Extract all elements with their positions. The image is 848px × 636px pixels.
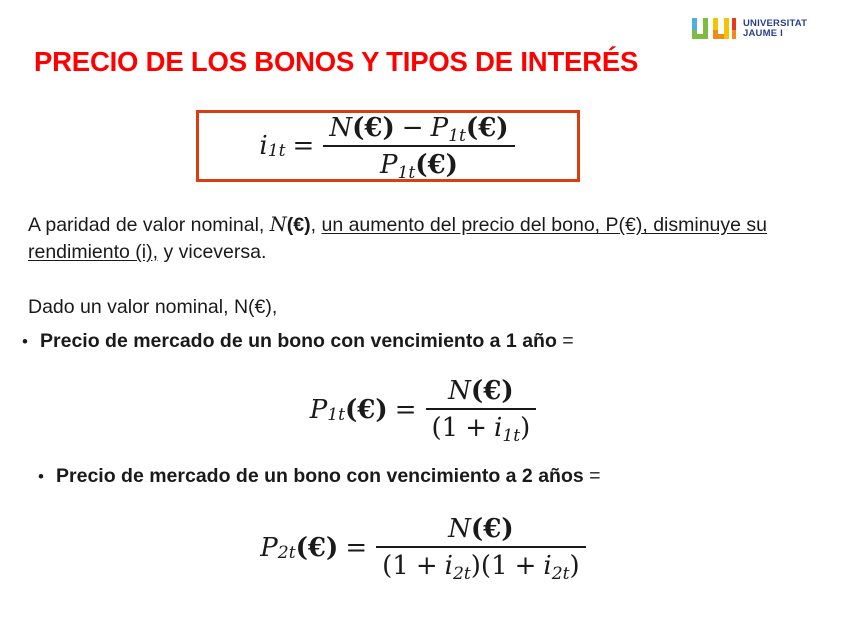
den-euro: (€) — [415, 150, 458, 180]
eq-denominator: P1t(€) — [323, 145, 514, 180]
uji-logo-mark — [692, 18, 736, 39]
bullet-1-label: Precio de mercado de un bono con vencimi… — [40, 330, 557, 352]
bullet-item-1-year: • Precio de mercado de un bono con venci… — [22, 330, 574, 353]
bullet-1-equals: = — [557, 330, 574, 352]
equation-price-2-years: P2t(€) = N(€) (1+i2t)(1+i2t) — [260, 514, 587, 581]
eq-var-i: i — [259, 131, 267, 161]
eq1-den-open: ( — [432, 413, 442, 443]
eq1-euro: (€) — [345, 395, 388, 425]
eq-sub-1t: 1t — [268, 141, 286, 161]
paridad-seg1: A paridad de valor nominal, — [28, 214, 270, 236]
eq2-den-close-1: ) — [471, 551, 481, 581]
eq2-P: P — [260, 533, 278, 563]
eq2-euro: (€) — [296, 533, 339, 563]
num-N: N — [329, 113, 352, 143]
num-euro-2: (€) — [466, 113, 509, 143]
eq2-den-close-2: ) — [570, 551, 580, 581]
eq1-numerator: N(€) — [442, 376, 519, 408]
eq2-den-open-2: ( — [481, 551, 491, 581]
eq1-denominator: (1+i1t) — [426, 408, 537, 443]
eq2-den-plus-1: + — [416, 551, 438, 581]
eq1-fraction: N(€) (1+i1t) — [426, 376, 537, 443]
uji-logo-text: UNIVERSITAT JAUME I — [743, 19, 807, 38]
equation-price-1-year-wrap: P1t(€) = N(€) (1+i1t) — [0, 376, 848, 443]
eq1-den-close: ) — [520, 413, 530, 443]
equation-price-2-years-wrap: P2t(€) = N(€) (1+i2t)(1+i2t) — [0, 514, 848, 581]
eq2-fraction: N(€) (1+i2t)(1+i2t) — [376, 514, 586, 581]
uji-logo-line2: JAUME I — [743, 29, 807, 39]
bullet-1-text: Precio de mercado de un bono con vencimi… — [40, 330, 574, 353]
bullet-2-text: Precio de mercado de un bono con vencimi… — [56, 465, 601, 488]
eq1-P: P — [310, 395, 328, 425]
eq2-den-i-1: i — [445, 551, 453, 581]
eq2-den-open-1: ( — [382, 551, 392, 581]
paridad-N: N — [270, 213, 287, 236]
paragraph-paridad: A paridad de valor nominal, N(€), un aum… — [28, 212, 788, 266]
num-minus: − — [402, 113, 424, 143]
boxed-equation: i1t = N(€)−P1t(€) P1t(€) — [196, 110, 580, 182]
uji-logo: UNIVERSITAT JAUME I — [692, 18, 807, 39]
bullet-2-equals: = — [584, 465, 601, 487]
eq2-den-i-2: i — [543, 551, 551, 581]
equation-price-1-year: P1t(€) = N(€) (1+i1t) — [310, 376, 539, 443]
eq2-den-plus-2: + — [515, 551, 537, 581]
paridad-seg5: y viceversa. — [158, 241, 266, 263]
num-sub: 1t — [448, 126, 466, 146]
eq1-equals: = — [395, 395, 417, 425]
eq2-equals: = — [345, 533, 367, 563]
eq-equals: = — [293, 131, 315, 161]
num-euro-1: (€) — [352, 113, 395, 143]
bullet-2-label: Precio de mercado de un bono con vencimi… — [56, 465, 584, 487]
eq2-num-N: N — [448, 514, 471, 544]
bullet-item-2-years: • Precio de mercado de un bono con venci… — [38, 465, 601, 488]
eq2-den-one-1: 1 — [392, 551, 409, 581]
paragraph-dado: Dado un valor nominal, N(€), — [28, 294, 277, 321]
eq1-num-euro: (€) — [471, 376, 514, 406]
den-P: P — [380, 150, 398, 180]
bullet-marker-icon: • — [38, 468, 56, 485]
equation-interest-rate: i1t = N(€)−P1t(€) P1t(€) — [259, 113, 516, 180]
bullet-marker-icon: • — [22, 333, 40, 350]
num-P: P — [431, 113, 449, 143]
eq1-den-sub: 1t — [502, 426, 520, 446]
eq2-den-one-2: 1 — [491, 551, 508, 581]
eq2-sub: 2t — [278, 543, 296, 563]
paridad-seg4: , — [311, 214, 322, 236]
eq2-den-sub-1: 2t — [453, 564, 471, 584]
eq1-num-N: N — [448, 376, 471, 406]
eq-fraction: N(€)−P1t(€) P1t(€) — [323, 113, 514, 180]
eq2-numerator: N(€) — [442, 514, 519, 546]
den-sub: 1t — [397, 163, 415, 183]
eq1-sub: 1t — [327, 405, 345, 425]
eq-numerator: N(€)−P1t(€) — [323, 113, 514, 145]
eq2-den-sub-2: 2t — [552, 564, 570, 584]
eq2-num-euro: (€) — [471, 514, 514, 544]
eq1-den-one: 1 — [442, 413, 459, 443]
page-title: PRECIO DE LOS BONOS Y TIPOS DE INTERÉS — [34, 46, 814, 78]
eq1-den-plus: + — [465, 413, 487, 443]
eq2-denominator: (1+i2t)(1+i2t) — [376, 546, 586, 581]
paridad-euro: (€) — [287, 214, 311, 236]
slide-root: { "logo": { "mark_name": "uji-logo-mark"… — [0, 0, 848, 636]
